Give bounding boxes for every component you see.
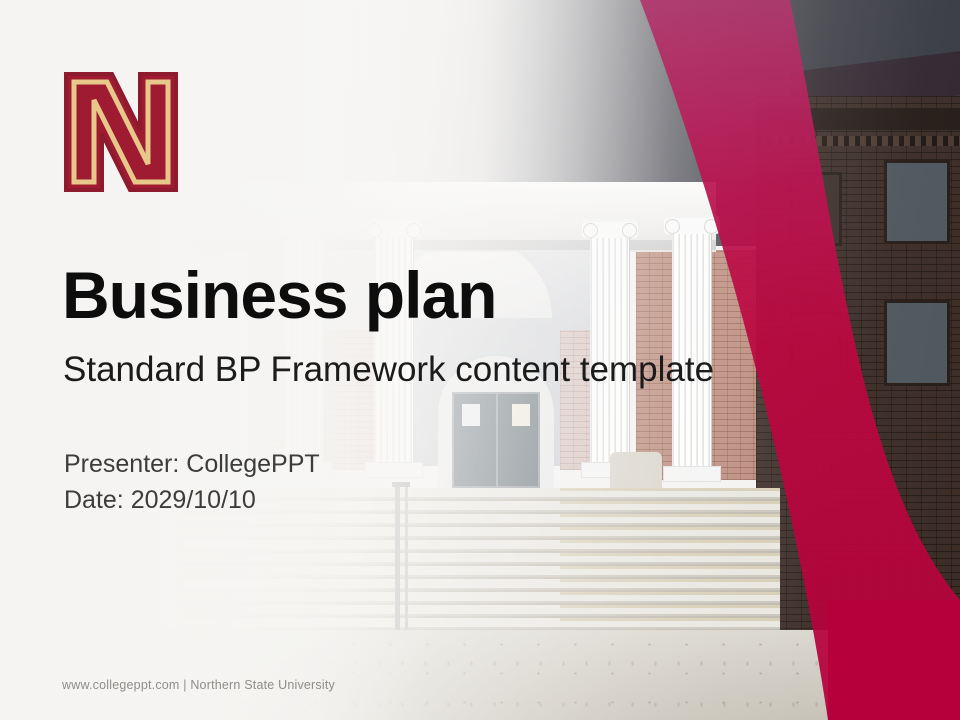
presenter-line: Presenter: CollegePPT [64, 447, 320, 483]
page-title: Business plan [62, 262, 496, 328]
page-subtitle: Standard BP Framework content template [63, 352, 714, 387]
footer-credit: www.collegeppt.com | Northern State Univ… [62, 678, 335, 692]
university-logo-icon [60, 68, 182, 196]
presentation-meta: Presenter: CollegePPT Date: 2029/10/10 [64, 447, 320, 518]
presentation-title-slide: Business plan Standard BP Framework cont… [0, 0, 960, 720]
crimson-band-solid-base [828, 600, 960, 720]
date-line: Date: 2029/10/10 [64, 483, 320, 519]
